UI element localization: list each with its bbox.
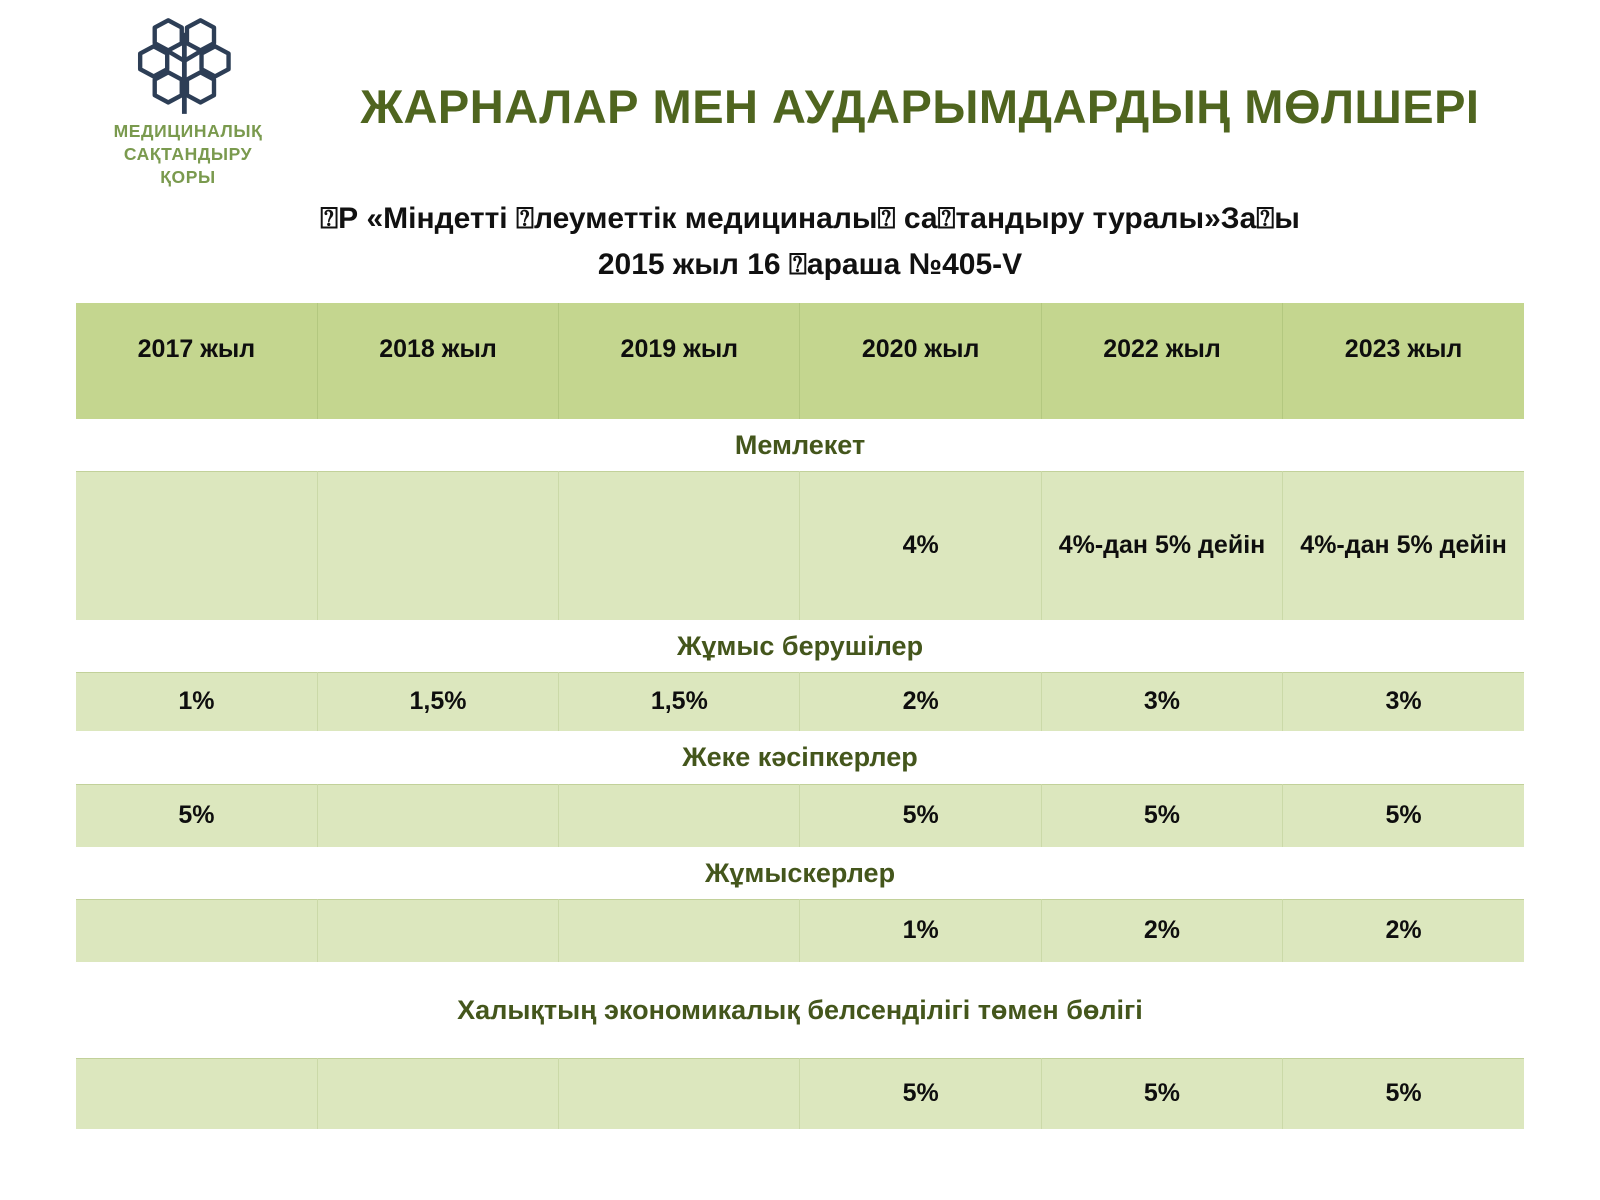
column-header-2023: 2023 жыл — [1283, 303, 1524, 419]
cell-entrepreneurs-2023: 5% — [1283, 785, 1524, 848]
cell-inactive-2017 — [76, 1059, 317, 1130]
table-row-state: 4% 4%-дан 5% дейін 4%-дан 5% дейін — [76, 472, 1524, 621]
cell-workers-2018 — [317, 900, 558, 963]
cell-entrepreneurs-2019 — [559, 785, 800, 848]
cell-entrepreneurs-2017: 5% — [76, 785, 317, 848]
logo-line-2: САҚТАНДЫРУ — [78, 143, 298, 166]
subtitle-law-name: ⍰Р «Міндетті ⍰леуметтік медициналы⍰ са⍰т… — [170, 196, 1450, 242]
column-header-2017: 2017 жыл — [76, 303, 317, 419]
cell-state-2019 — [559, 472, 800, 621]
cell-workers-2020: 1% — [800, 900, 1041, 963]
table-row-entrepreneurs: 5% 5% 5% 5% — [76, 785, 1524, 848]
cell-state-2020: 4% — [800, 472, 1041, 621]
section-header-row-workers: Жұмыскерлер — [76, 847, 1524, 900]
rates-table: 2017 жыл 2018 жыл 2019 жыл 2020 жыл 2022… — [76, 303, 1524, 1129]
subtitle-law-date: 2015 жыл 16 ⍰араша №405-V — [170, 242, 1450, 288]
cell-entrepreneurs-2018 — [317, 785, 558, 848]
table-row-inactive-population: 5% 5% 5% — [76, 1059, 1524, 1130]
section-label-workers: Жұмыскерлер — [76, 847, 1524, 900]
section-header-row-inactive-population: Халықтың экономикалық белсенділігі төмен… — [76, 962, 1524, 1059]
cell-workers-2017 — [76, 900, 317, 963]
section-header-row-entrepreneurs: Жеке кәсіпкерлер — [76, 731, 1524, 785]
column-header-2018: 2018 жыл — [317, 303, 558, 419]
section-header-row-employers: Жұмыс берушілер — [76, 620, 1524, 673]
column-header-2020: 2020 жыл — [800, 303, 1041, 419]
cell-state-2022: 4%-дан 5% дейін — [1041, 472, 1282, 621]
cell-inactive-2019 — [559, 1059, 800, 1130]
cell-inactive-2022: 5% — [1041, 1059, 1282, 1130]
section-label-state: Мемлекет — [76, 419, 1524, 472]
cell-workers-2023: 2% — [1283, 900, 1524, 963]
section-label-employers: Жұмыс берушілер — [76, 620, 1524, 673]
cell-workers-2022: 2% — [1041, 900, 1282, 963]
hexagonal-snowflake-logo-icon — [136, 12, 240, 116]
cell-employers-2023: 3% — [1283, 673, 1524, 732]
cell-entrepreneurs-2022: 5% — [1041, 785, 1282, 848]
rates-table-container: 2017 жыл 2018 жыл 2019 жыл 2020 жыл 2022… — [76, 303, 1524, 1129]
organization-logo: МЕДИЦИНАЛЫҚ САҚТАНДЫРУ ҚОРЫ — [78, 12, 298, 189]
logo-line-3: ҚОРЫ — [78, 166, 298, 189]
cell-state-2023: 4%-дан 5% дейін — [1283, 472, 1524, 621]
logo-wordmark: МЕДИЦИНАЛЫҚ САҚТАНДЫРУ ҚОРЫ — [78, 120, 298, 189]
section-label-entrepreneurs: Жеке кәсіпкерлер — [76, 731, 1524, 785]
cell-employers-2019: 1,5% — [559, 673, 800, 732]
cell-employers-2018: 1,5% — [317, 673, 558, 732]
cell-employers-2022: 3% — [1041, 673, 1282, 732]
table-row-employers: 1% 1,5% 1,5% 2% 3% 3% — [76, 673, 1524, 732]
cell-employers-2020: 2% — [800, 673, 1041, 732]
page-subtitle: ⍰Р «Міндетті ⍰леуметтік медициналы⍰ са⍰т… — [170, 196, 1450, 287]
cell-entrepreneurs-2020: 5% — [800, 785, 1041, 848]
cell-inactive-2023: 5% — [1283, 1059, 1524, 1130]
cell-state-2018 — [317, 472, 558, 621]
table-header-row: 2017 жыл 2018 жыл 2019 жыл 2020 жыл 2022… — [76, 303, 1524, 419]
logo-line-1: МЕДИЦИНАЛЫҚ — [78, 120, 298, 143]
cell-employers-2017: 1% — [76, 673, 317, 732]
section-header-row-state: Мемлекет — [76, 419, 1524, 472]
column-header-2019: 2019 жыл — [559, 303, 800, 419]
cell-workers-2019 — [559, 900, 800, 963]
cell-state-2017 — [76, 472, 317, 621]
cell-inactive-2018 — [317, 1059, 558, 1130]
column-header-2022: 2022 жыл — [1041, 303, 1282, 419]
page-title: ЖАРНАЛАР МЕН АУДАРЫМДАРДЫҢ МӨЛШЕРІ — [300, 82, 1540, 131]
cell-inactive-2020: 5% — [800, 1059, 1041, 1130]
table-row-workers: 1% 2% 2% — [76, 900, 1524, 963]
section-label-inactive-population: Халықтың экономикалық белсенділігі төмен… — [76, 962, 1524, 1059]
